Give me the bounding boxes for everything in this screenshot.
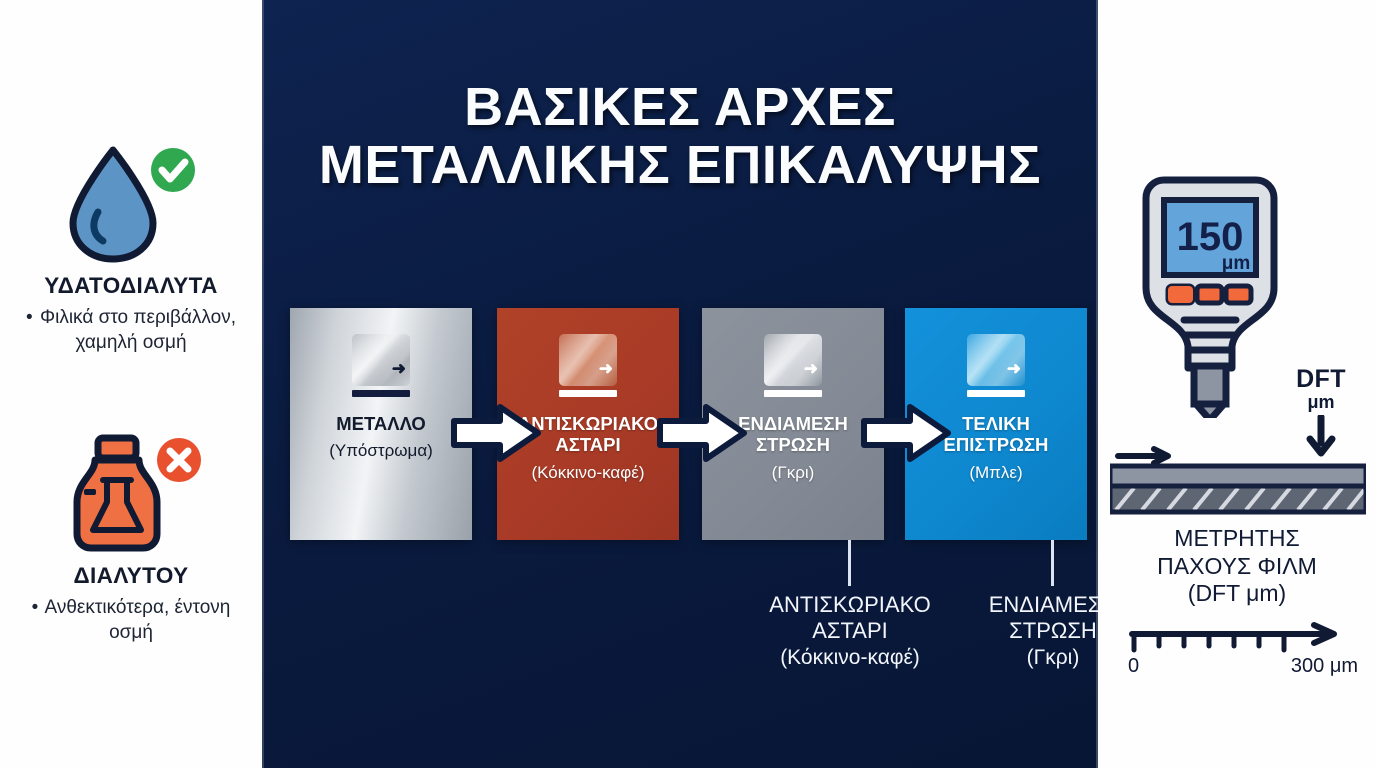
bullet-marker: • xyxy=(32,597,39,618)
topcoat-swatch-icon: ➜ xyxy=(965,334,1027,397)
right-arrow-icon: ➜ xyxy=(392,360,406,377)
coated-substrate-diagram xyxy=(1110,440,1366,520)
right-arrow-icon: ➜ xyxy=(804,360,818,377)
bottom-caption-intermediate: ΕΝΔΙΑΜΕΣΗ ΣΤΡΩΣΗ (Γκρι) xyxy=(928,592,1098,670)
bottom-caption-intermediate-sub: (Γκρι) xyxy=(928,645,1098,670)
scale-end-labels: 0 300 μm xyxy=(1128,655,1358,678)
topcoat-layer-bar xyxy=(967,390,1025,397)
page-title: ΒΑΣΙΚΕΣ ΑΡΧΕΣ ΜΕΤΑΛΛΙΚΗΣ ΕΠΙΚΑΛΥΨΗΣ xyxy=(262,78,1098,195)
waterbased-block: ΥΔΑΤΟΔΙΑΛΥΤΑ • Φιλικά στο περιβάλλον, χα… xyxy=(0,140,262,356)
primer-layer-bar xyxy=(559,390,617,397)
bottom-caption-intermediate-line2: ΣΤΡΩΣΗ xyxy=(1009,618,1097,643)
right-dft-panel: 150 μm DFT μm xyxy=(1098,0,1376,768)
dft-callout-unit: μm xyxy=(1276,392,1366,413)
connector-stem-intermediate xyxy=(1051,540,1054,586)
bottom-caption-primer-line1: ΑΝΤΙΣΚΩΡΙΑΚΟ xyxy=(769,592,930,617)
stage-label-metal: ΜΕΤΑΛΛΟ xyxy=(330,413,432,434)
stage-sub-primer: (Κόκκινο-καφέ) xyxy=(531,463,644,483)
left-paint-types-panel: ΥΔΑΤΟΔΙΑΛΥΤΑ • Φιλικά στο περιβάλλον, χα… xyxy=(0,0,262,768)
metal-layer-bar xyxy=(352,390,410,397)
waterbased-title: ΥΔΑΤΟΔΙΑΛΥΤΑ xyxy=(0,273,262,299)
intermediate-layer-bar xyxy=(764,390,822,397)
dft-caption: ΜΕΤΡΗΤΗΣ ΠΑΧΟΥΣ ΦΙΛΜ (DFT μm) xyxy=(1098,525,1376,608)
center-process-panel: ΒΑΣΙΚΕΣ ΑΡΧΕΣ ΜΕΤΑΛΛΙΚΗΣ ΕΠΙΚΑΛΥΨΗΣ ➜ ΜΕ… xyxy=(262,0,1098,768)
page-title-line2: ΜΕΤΑΛΛΙΚΗΣ ΕΠΙΚΑΛΥΨΗΣ xyxy=(262,136,1098,194)
page-title-line1: ΒΑΣΙΚΕΣ ΑΡΧΕΣ xyxy=(464,77,896,137)
flow-arrow-1-icon xyxy=(450,403,542,463)
waterbased-bullet-text: Φιλικά στο περιβάλλον, χαμηλή οσμή xyxy=(40,307,236,353)
bottom-caption-intermediate-line1: ΕΝΔΙΑΜΕΣΗ xyxy=(989,592,1098,617)
right-arrow-icon: ➜ xyxy=(599,360,613,377)
right-arrow-icon xyxy=(1118,449,1168,463)
solvent-bottle-icon xyxy=(51,430,211,555)
solventbased-bullet-text: Ανθεκτικότερα, έντονη οσμή xyxy=(45,597,231,643)
gauge-display-unit: μm xyxy=(1222,253,1251,274)
water-drop-icon xyxy=(51,140,211,265)
scale-max-label: 300 μm xyxy=(1291,655,1358,678)
solventbased-bullet: • Ανθεκτικότερα, έντονη οσμή xyxy=(0,595,262,646)
primer-swatch-icon: ➜ xyxy=(557,334,619,397)
right-arrow-icon: ➜ xyxy=(1007,360,1021,377)
stage-box-metal[interactable]: ➜ ΜΕΤΑΛΛΟ (Υπόστρωμα) xyxy=(290,308,472,540)
stage-sub-topcoat: (Μπλε) xyxy=(969,463,1022,483)
intermediate-swatch-icon: ➜ xyxy=(762,334,824,397)
dft-caption-line1: ΜΕΤΡΗΤΗΣ xyxy=(1174,525,1299,551)
infographic-canvas: ΥΔΑΤΟΔΙΑΛΥΤΑ • Φιλικά στο περιβάλλον, χα… xyxy=(0,0,1376,768)
flow-arrow-2-icon xyxy=(656,403,748,463)
stage-sub-intermediate: (Γκρι) xyxy=(772,463,815,483)
dft-caption-line2: ΠΑΧΟΥΣ ΦΙΛΜ xyxy=(1157,553,1317,579)
coating-stage-boxes: ➜ ΜΕΤΑΛΛΟ (Υπόστρωμα) ➜ ΑΝΤΙΣΚΩΡΙΑΚΟ ΑΣΤ… xyxy=(290,308,1090,540)
solventbased-title: ΔΙΑΛΥΤΟΥ xyxy=(0,563,262,589)
bottom-caption-primer-line2: ΑΣΤΑΡΙ xyxy=(812,618,888,643)
flow-arrow-3-icon xyxy=(860,403,952,463)
waterbased-bullet: • Φιλικά στο περιβάλλον, χαμηλή οσμή xyxy=(0,305,262,356)
dft-callout-label: DFT xyxy=(1296,365,1346,393)
dft-caption-line3: (DFT μm) xyxy=(1188,580,1286,606)
metal-swatch-icon: ➜ xyxy=(350,334,412,397)
connector-stem-primer xyxy=(848,540,851,586)
bullet-marker: • xyxy=(26,307,33,328)
solventbased-block: ΔΙΑΛΥΤΟΥ • Ανθεκτικότερα, έντονη οσμή xyxy=(0,430,262,646)
stage-sub-metal: (Υπόστρωμα) xyxy=(329,441,433,461)
scale-min-label: 0 xyxy=(1128,655,1139,678)
